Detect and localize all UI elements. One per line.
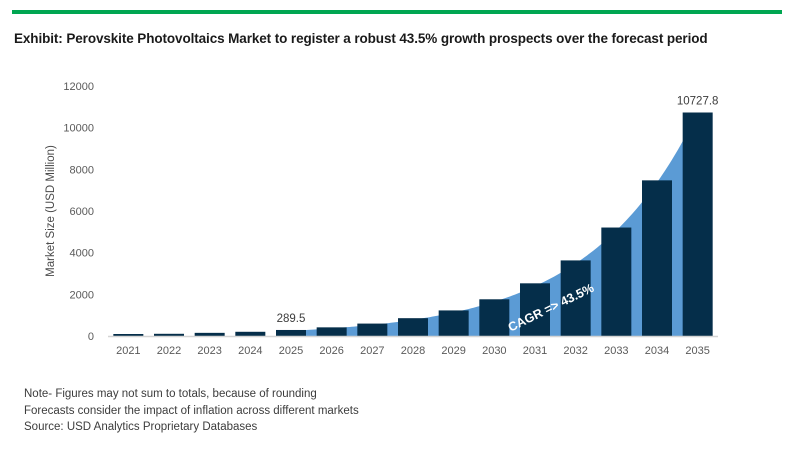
x-axis-tick-label: 2026 [319, 345, 343, 357]
x-axis-tick-label: 2024 [238, 345, 262, 357]
footer-note-line: Note- Figures may not sum to totals, bec… [24, 386, 359, 403]
x-axis-tick-label: 2032 [563, 345, 587, 357]
bar-2035 [683, 113, 713, 337]
bar-2024 [235, 332, 265, 336]
x-axis-tick-label: 2034 [645, 345, 669, 357]
bar-2029 [439, 310, 469, 336]
y-axis-tick-label: 0 [88, 331, 94, 343]
bar-2027 [357, 324, 387, 336]
x-axis-tick-label: 2028 [401, 345, 425, 357]
y-axis-title: Market Size (USD Million) [45, 145, 57, 277]
bar-2028 [398, 318, 428, 336]
top-accent-bar [12, 10, 782, 14]
x-axis-tick-label: 2025 [279, 345, 303, 357]
y-axis-tick-label: 2000 [70, 289, 94, 301]
x-axis-tick-label: 2030 [482, 345, 506, 357]
x-axis-tick-label: 2033 [604, 345, 628, 357]
data-label-2035: 10727.8 [677, 96, 719, 108]
x-axis-tick-label: 2029 [441, 345, 465, 357]
bar-2022 [154, 334, 184, 336]
data-label-2025: 289.5 [277, 313, 306, 325]
footer-source-line: Source: USD Analytics Proprietary Databa… [24, 419, 359, 436]
bar-2034 [642, 180, 672, 336]
x-axis-tick-label: 2023 [197, 345, 221, 357]
x-axis-tick-label: 2021 [116, 345, 140, 357]
x-axis-tick-label: 2031 [523, 345, 547, 357]
bar-2026 [317, 327, 347, 336]
y-axis-tick-label: 12000 [63, 81, 94, 93]
footer-forecast-line: Forecasts consider the impact of inflati… [24, 403, 359, 420]
y-axis-tick-label: 4000 [70, 248, 94, 260]
page-title: Exhibit: Perovskite Photovoltaics Market… [14, 31, 708, 46]
y-axis-tick-label: 6000 [70, 206, 94, 218]
chart-container: 020004000600080001000012000Market Size (… [0, 66, 794, 366]
y-axis-tick-label: 10000 [63, 123, 94, 135]
market-size-chart: 020004000600080001000012000Market Size (… [0, 66, 794, 366]
bar-2033 [601, 228, 631, 336]
footer-notes: Note- Figures may not sum to totals, bec… [24, 386, 359, 436]
x-axis-tick-label: 2022 [157, 345, 181, 357]
bar-2021 [113, 334, 143, 336]
bar-2030 [479, 299, 509, 336]
x-axis-tick-label: 2035 [685, 345, 709, 357]
bar-2023 [195, 333, 225, 336]
bar-2025 [276, 330, 306, 336]
y-axis-tick-label: 8000 [70, 164, 94, 176]
x-axis-tick-label: 2027 [360, 345, 384, 357]
